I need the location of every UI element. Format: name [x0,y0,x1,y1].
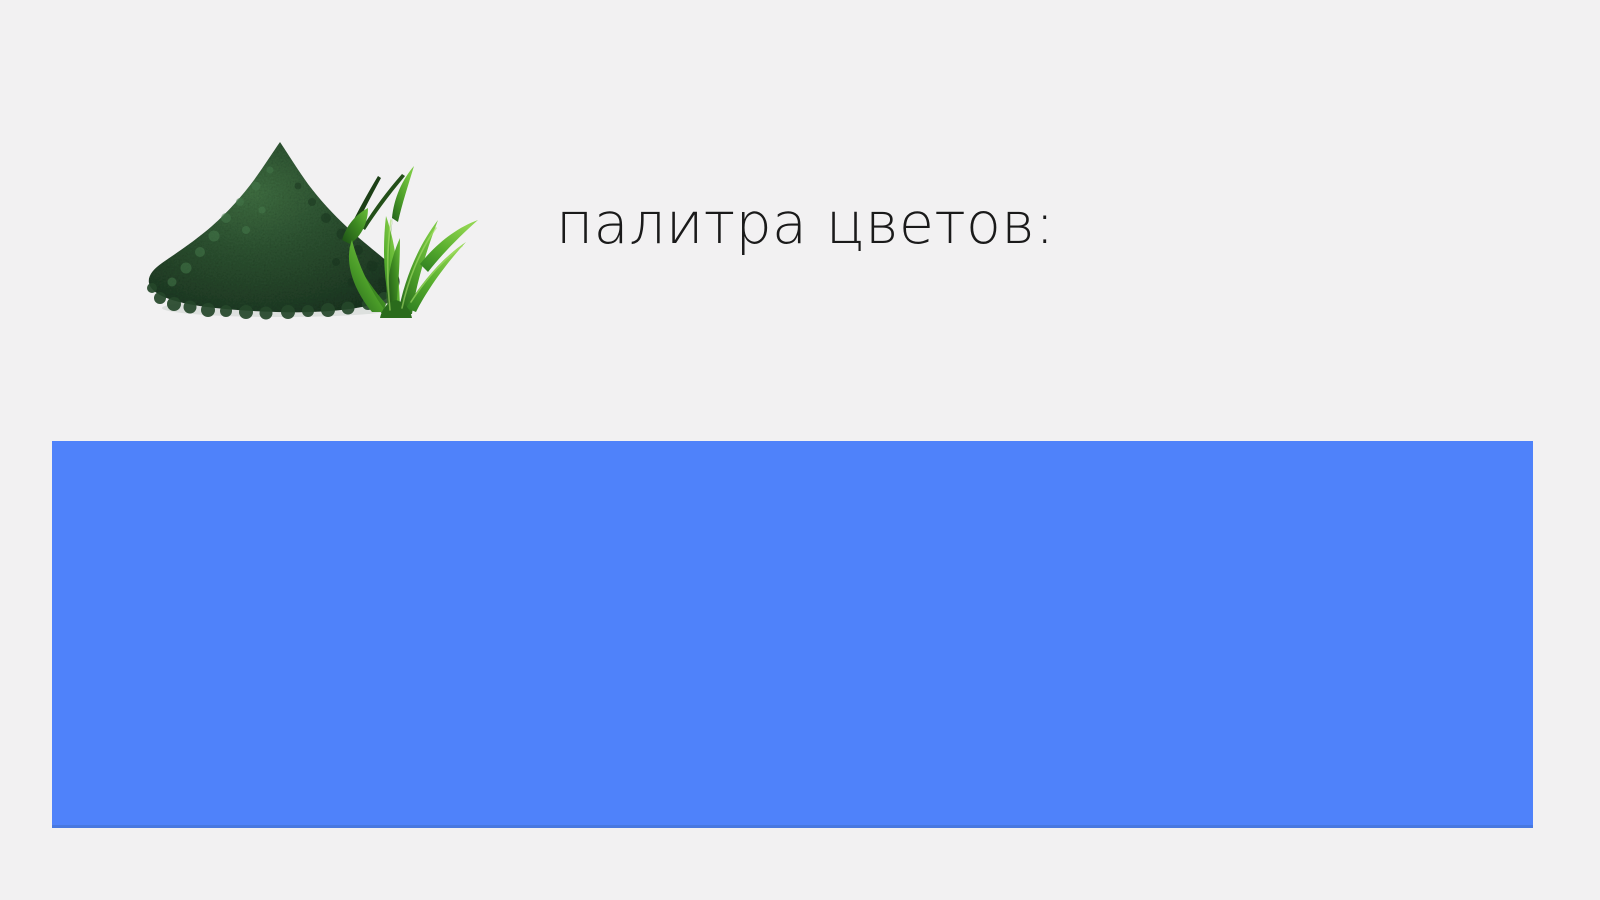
header-row: палитра цветов: [0,0,1600,400]
color-swatch-panel[interactable] [52,441,1533,828]
spirulina-product-image [130,132,510,328]
slide-canvas: палитра цветов: [0,0,1600,900]
page-title: палитра цветов: [556,196,1055,253]
